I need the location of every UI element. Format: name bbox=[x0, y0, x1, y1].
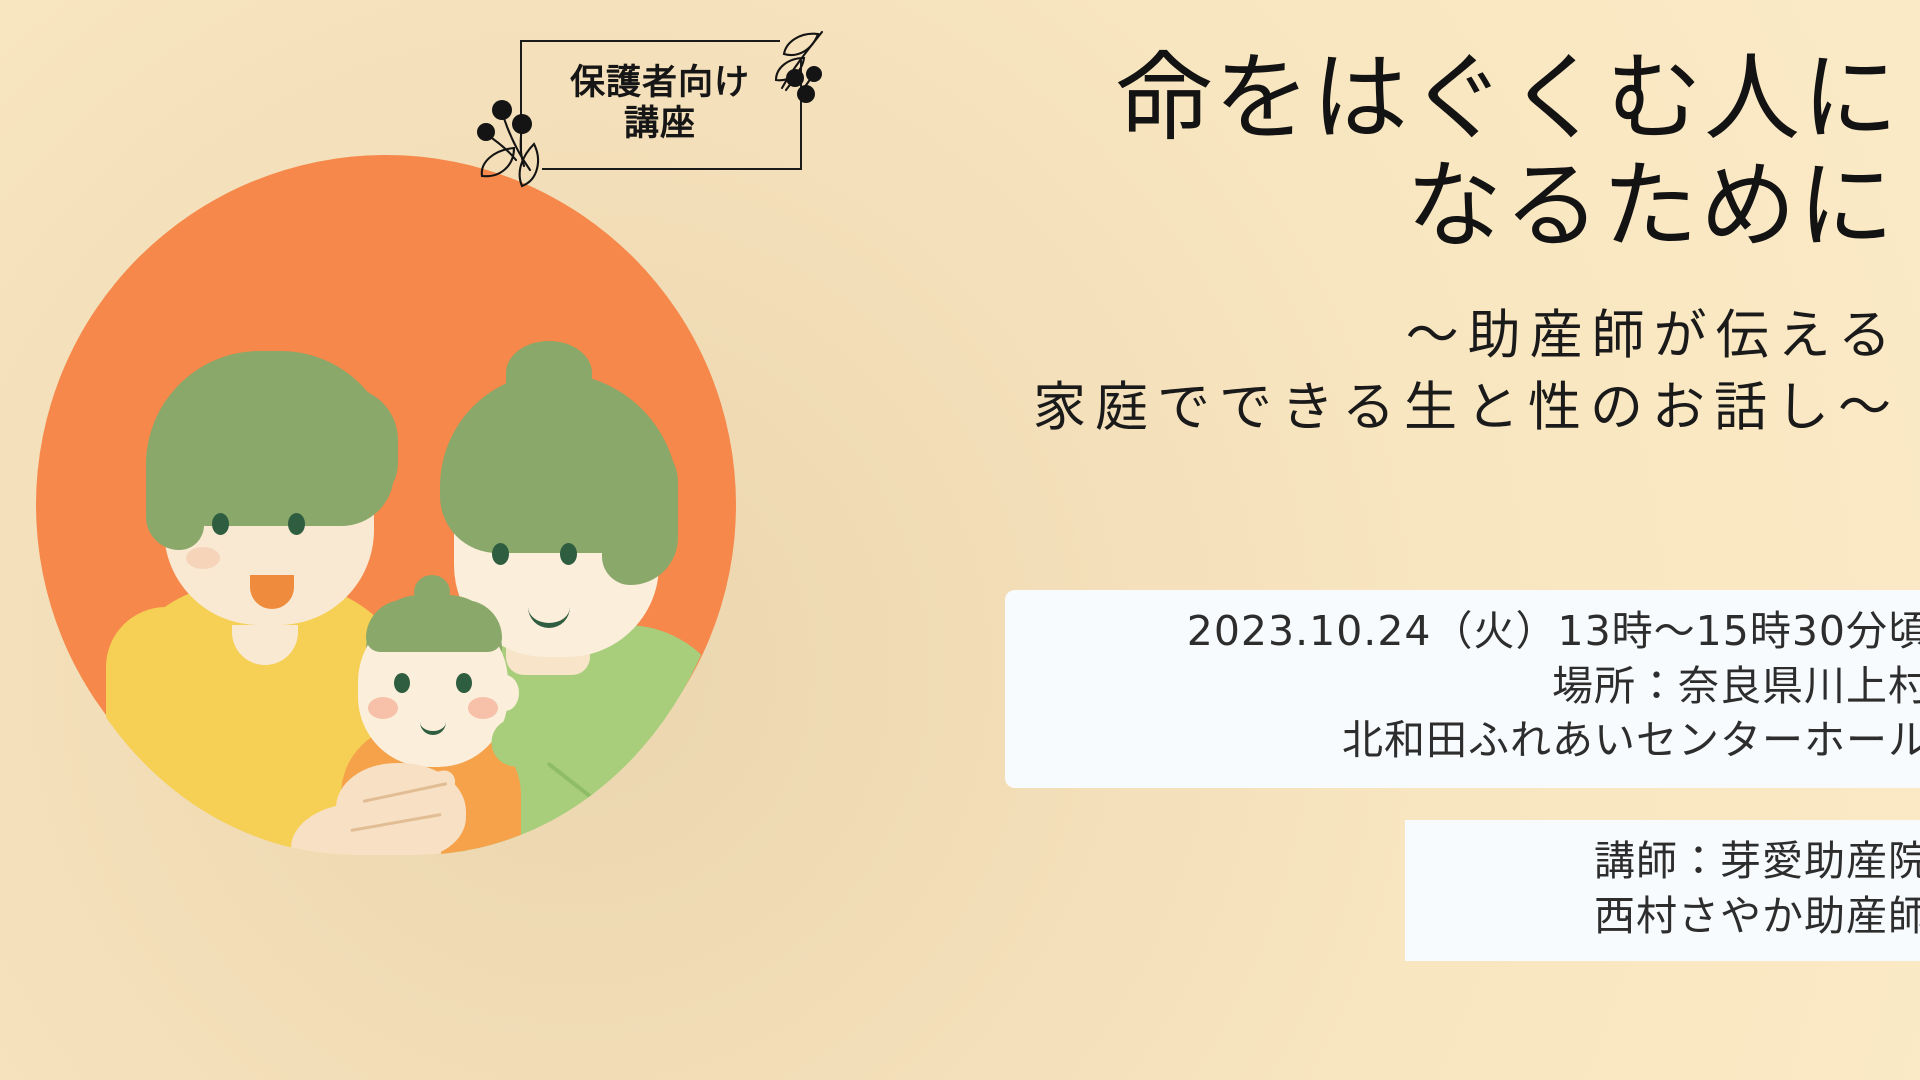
page-title: 命をはぐくむ人に なるために bbox=[960, 45, 1900, 260]
badge-line-1: 保護者向け bbox=[570, 63, 750, 104]
adult-left-eye-right bbox=[288, 513, 305, 535]
subtitle-line-2: 家庭でできる生と性のお話し〜 bbox=[880, 372, 1900, 444]
baby-cheek-left bbox=[368, 697, 398, 719]
adult-right-fringe bbox=[462, 403, 582, 513]
adult-right-eye-left bbox=[492, 543, 509, 565]
adult-left-cheek bbox=[186, 547, 220, 569]
poster-canvas: 保護者向け 講座 命をはぐくむ人に なるために 〜助産師が伝える 家庭でできる生… bbox=[0, 0, 1920, 1080]
adult-right-hair-bun bbox=[506, 341, 592, 405]
illustration-clip bbox=[36, 155, 736, 855]
baby-cheek-right bbox=[468, 697, 498, 719]
baby-hair-front bbox=[366, 600, 502, 652]
adult-left-eye-left bbox=[212, 513, 229, 535]
subtitle-line-1: 〜助産師が伝える bbox=[880, 300, 1900, 372]
adult-right-eye-right bbox=[560, 543, 577, 565]
badge-text: 保護者向け 講座 bbox=[520, 40, 800, 168]
adult-left-fringe bbox=[186, 383, 366, 475]
lecturer-info-box: 講師：芽愛助産院 西村さやか助産師 bbox=[1405, 820, 1920, 961]
badge-line-2: 講座 bbox=[624, 104, 696, 145]
event-venue-area: 場所：奈良県川上村 bbox=[1035, 659, 1920, 714]
baby-eye-right bbox=[456, 673, 472, 693]
event-info-box: 2023.10.24（火）13時〜15時30分頃 場所：奈良県川上村 北和田ふれ… bbox=[1005, 590, 1920, 788]
event-venue-hall: 北和田ふれあいセンターホール bbox=[1035, 713, 1920, 768]
lecturer-name: 西村さやか助産師 bbox=[1435, 889, 1920, 944]
page-subtitle: 〜助産師が伝える 家庭でできる生と性のお話し〜 bbox=[880, 300, 1900, 443]
adult-right-hair-side bbox=[602, 435, 678, 585]
baby-eye-left bbox=[394, 673, 410, 693]
family-illustration bbox=[36, 155, 736, 1035]
badge: 保護者向け 講座 bbox=[520, 40, 800, 168]
event-datetime: 2023.10.24（火）13時〜15時30分頃 bbox=[1035, 604, 1920, 659]
headline-line-1: 命をはぐくむ人に bbox=[960, 45, 1900, 153]
headline-line-2: なるために bbox=[960, 153, 1900, 261]
lecturer-organization: 講師：芽愛助産院 bbox=[1435, 834, 1920, 889]
